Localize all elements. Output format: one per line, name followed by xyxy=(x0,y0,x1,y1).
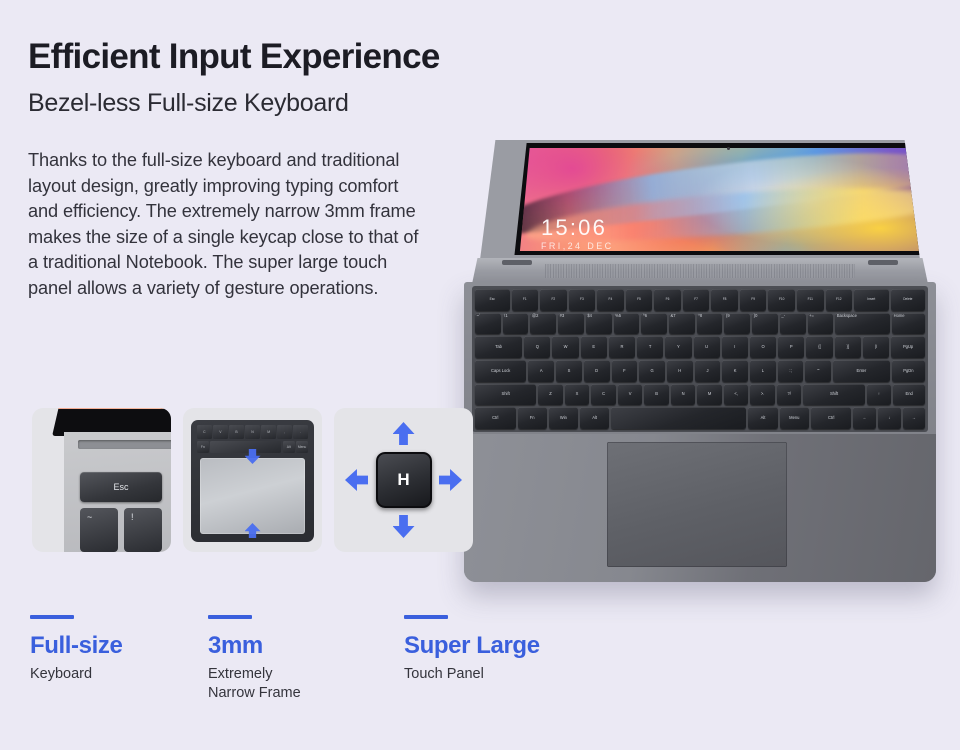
keyboard: EscF1F2F3F4F5F6F7F8F9F10F11F12InsertDele… xyxy=(475,289,925,429)
key-n[interactable]: N xyxy=(671,384,696,406)
key-w[interactable]: W xyxy=(552,336,578,358)
macro-key-.: . xyxy=(293,425,308,439)
key-f[interactable]: F xyxy=(612,360,638,382)
key-backspace[interactable]: Backspace xyxy=(835,313,890,335)
key-↑[interactable]: ↑ xyxy=(867,384,892,406)
key-%-5[interactable]: %5 xyxy=(614,313,640,335)
key-enter[interactable]: Enter xyxy=(833,360,890,382)
key-}-][interactable]: }] xyxy=(835,336,861,358)
arrow-left-icon xyxy=(345,469,368,491)
macro-key-row: CVBNM,. xyxy=(197,425,308,439)
h-keycap: H xyxy=(376,452,432,508)
key-<-,[interactable]: <, xyxy=(724,384,749,406)
key-pgup[interactable]: PgUp xyxy=(891,336,925,358)
key-)-0[interactable]: )0 xyxy=(752,313,778,335)
clock-time: 15:06 xyxy=(541,217,614,239)
key-f6[interactable]: F6 xyxy=(654,289,681,311)
macro-key-M: M xyxy=(261,425,276,439)
key-o[interactable]: O xyxy=(750,336,776,358)
page-subtitle: Bezel-less Full-size Keyboard xyxy=(28,89,349,118)
key-f5[interactable]: F5 xyxy=(626,289,653,311)
key-a[interactable]: A xyxy=(528,360,554,382)
key-@-2[interactable]: @2 xyxy=(530,313,556,335)
key-_--[interactable]: _- xyxy=(780,313,806,335)
key-^-6[interactable]: ^6 xyxy=(641,313,667,335)
key-end[interactable]: End xyxy=(893,384,925,406)
laptop-lid: 15:06 FRI,24 DEC xyxy=(480,140,920,260)
spec-value: 3mm xyxy=(208,632,301,660)
spec-accent-rule xyxy=(30,615,74,619)
page-title: Efficient Input Experience xyxy=(28,37,440,77)
detail-card-esc-key: Esc ~ ! xyxy=(32,408,171,552)
macro-modkey-Menu: Menu xyxy=(296,441,308,453)
key-f4[interactable]: F4 xyxy=(597,289,624,311)
lockscreen-clock: 15:06 FRI,24 DEC xyxy=(541,217,614,251)
spec-accent-rule xyxy=(208,615,252,619)
key-+-=[interactable]: += xyxy=(808,313,834,335)
feature-spec-2: 3mmExtremely Narrow Frame xyxy=(208,615,301,703)
macro-key-N: N xyxy=(245,425,260,439)
key-f1[interactable]: F1 xyxy=(512,289,539,311)
key-m[interactable]: M xyxy=(697,384,722,406)
key-←[interactable]: ← xyxy=(853,407,876,429)
body-paragraph: Thanks to the full-size keyboard and tra… xyxy=(28,148,428,301)
key-esc[interactable]: Esc xyxy=(475,289,510,311)
spec-value: Super Large xyxy=(404,632,540,660)
laptop-product-image: 15:06 FRI,24 DEC EscF1F2F3F4F5F6F7F8F9F1… xyxy=(452,140,944,590)
key-pgdn[interactable]: PgDn xyxy=(892,360,925,382)
hinge-foot-left xyxy=(502,260,532,265)
speaker-grille xyxy=(545,264,855,278)
touchpad-macro-body: CVBNM,. FnAltMenu xyxy=(191,420,314,542)
esc-key: Esc xyxy=(80,472,162,502)
key-shift[interactable]: Shift xyxy=(803,384,864,406)
key-f8[interactable]: F8 xyxy=(711,289,738,311)
key-|-\[interactable]: |\ xyxy=(863,336,889,358)
one-key: ! xyxy=(124,508,162,552)
key-u[interactable]: U xyxy=(694,336,720,358)
spec-label: Keyboard xyxy=(30,665,122,684)
key-f11[interactable]: F11 xyxy=(797,289,824,311)
key-$-4[interactable]: $4 xyxy=(586,313,612,335)
key-c[interactable]: C xyxy=(591,384,616,406)
keyboard-row-number-row: ~`!1@2#3$4%5^6&7*8(9)0_-+=BackspaceHome xyxy=(475,313,925,335)
key-space[interactable] xyxy=(611,407,746,429)
key-p[interactable]: P xyxy=(778,336,804,358)
detail-card-group: Esc ~ ! CVBNM,. FnAltMenu H xyxy=(32,408,473,552)
key-fn[interactable]: Fn xyxy=(518,407,547,429)
hinge-speaker-strip xyxy=(472,258,928,284)
key-y[interactable]: Y xyxy=(665,336,691,358)
key-d[interactable]: D xyxy=(584,360,610,382)
key-delete[interactable]: Delete xyxy=(891,289,926,311)
key-s[interactable]: S xyxy=(556,360,582,382)
key-"-'[interactable]: "' xyxy=(805,360,831,382)
key-↓[interactable]: ↓ xyxy=(878,407,901,429)
detail-card-keycap-size: H xyxy=(334,408,473,552)
key-f7[interactable]: F7 xyxy=(683,289,710,311)
key-{-[[interactable]: {[ xyxy=(806,336,832,358)
macro-key-V: V xyxy=(213,425,228,439)
key->-.[interactable]: >. xyxy=(750,384,775,406)
key-&-7[interactable]: &7 xyxy=(669,313,695,335)
macro-key-B: B xyxy=(229,425,244,439)
macro-modkey-space xyxy=(210,441,281,453)
key-→[interactable]: → xyxy=(903,407,926,429)
key-:-;[interactable]: :; xyxy=(778,360,804,382)
key-*-8[interactable]: *8 xyxy=(697,313,723,335)
keyboard-row-modifier-row: CtrlFnWinAltAltMenuCtrl←↓→ xyxy=(475,407,925,429)
key-!-1[interactable]: !1 xyxy=(503,313,529,335)
palm-rest xyxy=(464,434,936,582)
keyboard-row-home-row: Caps LockASDFGHJKL:;"'EnterPgDn xyxy=(475,360,925,382)
key-insert[interactable]: Insert xyxy=(854,289,889,311)
detail-card-touchpad: CVBNM,. FnAltMenu xyxy=(183,408,322,552)
key-f3[interactable]: F3 xyxy=(569,289,596,311)
key-f10[interactable]: F10 xyxy=(768,289,795,311)
keyboard-row-top-letter-row: TabQWERTYUIOP{[}]|\PgUp xyxy=(475,336,925,358)
key-e[interactable]: E xyxy=(581,336,607,358)
key-ctrl[interactable]: Ctrl xyxy=(811,407,852,429)
laptop-base: EscF1F2F3F4F5F6F7F8F9F10F11F12InsertDele… xyxy=(464,282,936,582)
spec-accent-rule xyxy=(404,615,448,619)
key-f2[interactable]: F2 xyxy=(540,289,567,311)
keyboard-row-bottom-letter-row: ShiftZXCVBNM<,>.?/Shift↑End xyxy=(475,384,925,406)
spec-label: Touch Panel xyxy=(404,665,540,684)
key-z[interactable]: Z xyxy=(538,384,563,406)
spec-value: Full-size xyxy=(30,632,122,660)
key-g[interactable]: G xyxy=(639,360,665,382)
key-menu[interactable]: Menu xyxy=(780,407,809,429)
key-l[interactable]: L xyxy=(750,360,776,382)
laptop-screen: 15:06 FRI,24 DEC xyxy=(511,143,945,255)
hinge-foot-right xyxy=(868,260,898,265)
arrow-up-icon xyxy=(393,422,415,445)
macro-modkey-Fn: Fn xyxy=(197,441,209,453)
key-tab[interactable]: Tab xyxy=(475,336,522,358)
key-v[interactable]: V xyxy=(618,384,643,406)
key-k[interactable]: K xyxy=(722,360,748,382)
key-?-/[interactable]: ?/ xyxy=(777,384,802,406)
key-ctrl[interactable]: Ctrl xyxy=(475,407,516,429)
keyboard-tray: EscF1F2F3F4F5F6F7F8F9F10F11F12InsertDele… xyxy=(472,286,928,432)
macro-key-,: , xyxy=(277,425,292,439)
key-r[interactable]: R xyxy=(609,336,635,358)
key-i[interactable]: I xyxy=(722,336,748,358)
key-home[interactable]: Home xyxy=(892,313,925,335)
feature-spec-3: Super LargeTouch Panel xyxy=(404,615,540,684)
key-f9[interactable]: F9 xyxy=(740,289,767,311)
arrow-right-icon xyxy=(439,469,462,491)
feature-spec-1: Full-sizeKeyboard xyxy=(30,615,122,684)
tilde-key: ~ xyxy=(80,508,118,552)
macro-touchpad-surface xyxy=(200,458,305,534)
key-alt[interactable]: Alt xyxy=(748,407,777,429)
key-t[interactable]: T xyxy=(637,336,663,358)
key-#-3[interactable]: #3 xyxy=(558,313,584,335)
macro-key-C: C xyxy=(197,425,212,439)
keyboard-row-function-row: EscF1F2F3F4F5F6F7F8F9F10F11F12InsertDele… xyxy=(475,289,925,311)
key-x[interactable]: X xyxy=(565,384,590,406)
key-caps-lock[interactable]: Caps Lock xyxy=(475,360,526,382)
arrow-down-icon xyxy=(393,515,415,538)
spec-label: Extremely Narrow Frame xyxy=(208,665,301,703)
key-~-`[interactable]: ~` xyxy=(475,313,501,335)
key-f12[interactable]: F12 xyxy=(826,289,853,311)
trackpad[interactable] xyxy=(607,442,787,567)
macro-modkey-Alt: Alt xyxy=(283,441,295,453)
key-shift[interactable]: Shift xyxy=(475,384,536,406)
clock-date: FRI,24 DEC xyxy=(541,242,614,251)
key-alt[interactable]: Alt xyxy=(580,407,609,429)
webcam-icon xyxy=(727,147,730,150)
key-(-9[interactable]: (9 xyxy=(724,313,750,335)
key-q[interactable]: Q xyxy=(524,336,550,358)
hinge-slot xyxy=(78,440,171,449)
key-h[interactable]: H xyxy=(667,360,693,382)
key-b[interactable]: B xyxy=(644,384,669,406)
key-win[interactable]: Win xyxy=(549,407,578,429)
key-j[interactable]: J xyxy=(695,360,721,382)
